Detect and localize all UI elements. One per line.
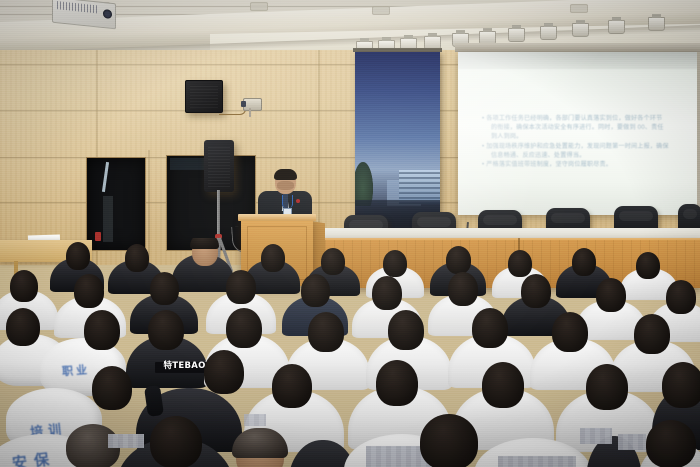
presenter-hair <box>274 169 297 180</box>
attendee-head <box>10 270 38 302</box>
attendee-head <box>272 364 312 408</box>
wall-speaker-icon <box>185 80 223 113</box>
lapel-pin-icon <box>296 199 300 203</box>
slide-line: • 各项工作任务已经明确，各部门要认真落实到位，做好各个环节 <box>482 114 690 123</box>
audience: 职业 培训 特TEBAO保 <box>0 238 700 467</box>
attendee-head <box>301 274 330 307</box>
slide-line: 到人到岗。 <box>482 132 690 141</box>
slide-text-block: • 各项工作任务已经明确，各部门要认真落实到位，做好各个环节 的衔接，确保本次活… <box>482 114 690 169</box>
attendee-head <box>226 270 256 304</box>
slide-line: 的衔接，确保本次活动安全有序进行。同时，要做到 00、责任 <box>482 123 690 132</box>
spotlight-icon <box>608 20 625 34</box>
attendee-head <box>572 248 596 276</box>
attendee-head <box>586 364 628 410</box>
banner-building <box>399 170 440 204</box>
spotlight-icon <box>648 17 665 31</box>
slide-line: 信息畅通、反应迅速、处置得当。 <box>482 151 690 160</box>
hanging-banner <box>355 52 440 230</box>
censor-block <box>108 434 144 448</box>
spotlight-icon <box>572 23 589 37</box>
attendee-head <box>6 308 40 346</box>
attendee-head <box>420 414 478 467</box>
shoulder-strap <box>144 385 164 417</box>
presenter-face-shadow <box>277 181 294 190</box>
attendee-head <box>383 250 407 277</box>
attendee-head <box>372 276 402 310</box>
security-camera-icon <box>243 98 262 111</box>
ceiling-vent <box>250 2 268 11</box>
attendee-head <box>446 246 471 274</box>
projection-screen: • 各项工作任务已经明确，各部门要认真落实到位，做好各个环节 的衔接，确保本次活… <box>458 52 700 215</box>
jacket-text: 职业 <box>61 361 90 379</box>
ceiling-vent <box>372 6 390 15</box>
screen-housing <box>455 43 700 52</box>
attendee-head <box>84 310 120 350</box>
attendee-head <box>261 244 285 272</box>
attendee-head <box>662 362 700 408</box>
attendee-head <box>204 350 244 394</box>
attendee-head <box>308 312 344 352</box>
slide-line: • 严格落实值班带班制度，坚守岗位履职尽责。 <box>482 160 690 169</box>
attendee-head <box>472 308 508 348</box>
attendee-head <box>552 312 588 352</box>
attendee-head <box>634 314 670 354</box>
lanyard-icon <box>282 195 293 208</box>
attendee-hair <box>190 238 219 249</box>
attendee-head <box>125 244 149 272</box>
attendee-head <box>92 366 132 410</box>
screen-top-band <box>458 52 700 69</box>
attendee-head <box>148 310 184 350</box>
attendee-head <box>521 274 551 308</box>
attendee-head <box>636 252 660 279</box>
ceiling-vent <box>570 4 588 13</box>
camera-mount <box>249 108 251 117</box>
attendee-head <box>376 360 418 406</box>
attendee-head <box>646 420 696 467</box>
conference-hall-photo: • 各项工作任务已经明确，各部门要认真落实到位，做好各个环节 的衔接，确保本次活… <box>0 0 700 467</box>
censor-block <box>618 434 646 450</box>
attendee-head <box>150 416 202 467</box>
attendee-head <box>150 272 179 305</box>
window-glow <box>103 196 113 242</box>
censor-block <box>498 456 576 467</box>
spotlight-icon <box>508 28 525 42</box>
attendee-head <box>388 310 424 350</box>
attendee-head <box>596 278 626 312</box>
spotlight-icon <box>540 26 557 40</box>
lectern-top <box>238 214 316 221</box>
attendee-head <box>226 308 262 348</box>
attendee-head <box>508 250 532 277</box>
attendee-head <box>666 280 696 314</box>
censor-block <box>244 414 266 426</box>
slide-line: • 加强现场秩序维护和应急处置能力，发现问题第一时间上报，确保 <box>482 142 690 151</box>
attendee-head <box>74 274 104 308</box>
attendee-head <box>66 242 90 270</box>
attendee-head <box>448 272 478 306</box>
attendee-head <box>482 362 524 408</box>
attendee-head <box>321 248 345 275</box>
pa-speaker-icon <box>204 140 234 192</box>
censor-block <box>580 428 612 444</box>
